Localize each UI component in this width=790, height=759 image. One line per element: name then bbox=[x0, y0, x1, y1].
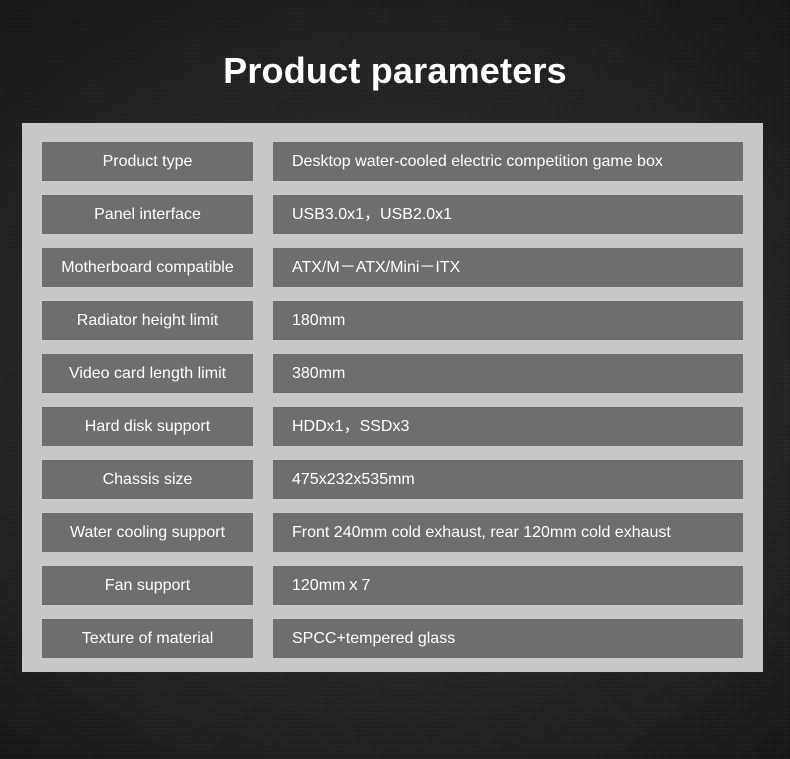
table-row: Fan support120mmｘ7 bbox=[42, 566, 743, 605]
specification-table: Product typeDesktop water-cooled electri… bbox=[42, 142, 743, 658]
table-row: Product typeDesktop water-cooled electri… bbox=[42, 142, 743, 181]
spec-value-cell: HDDx1，SSDx3 bbox=[273, 407, 743, 446]
spec-label-cell: Radiator height limit bbox=[42, 301, 253, 340]
spec-value-cell: Front 240mm cold exhaust, rear 120mm col… bbox=[273, 513, 743, 552]
page-title: Product parameters bbox=[0, 50, 790, 92]
spec-value-cell: USB3.0x1，USB2.0x1 bbox=[273, 195, 743, 234]
table-row: Chassis size475x232x535mm bbox=[42, 460, 743, 499]
table-row: Texture of materialSPCC+tempered glass bbox=[42, 619, 743, 658]
spec-value-cell: Desktop water-cooled electric competitio… bbox=[273, 142, 743, 181]
specification-panel: Product typeDesktop water-cooled electri… bbox=[22, 123, 763, 672]
column-gap bbox=[253, 566, 273, 605]
table-row: Video card length limit380mm bbox=[42, 354, 743, 393]
spec-label-cell: Fan support bbox=[42, 566, 253, 605]
table-row: Hard disk supportHDDx1，SSDx3 bbox=[42, 407, 743, 446]
spec-label-cell: Video card length limit bbox=[42, 354, 253, 393]
column-gap bbox=[253, 195, 273, 234]
spec-value-cell: SPCC+tempered glass bbox=[273, 619, 743, 658]
table-row: Water cooling supportFront 240mm cold ex… bbox=[42, 513, 743, 552]
spec-value-cell: 180mm bbox=[273, 301, 743, 340]
column-gap bbox=[253, 248, 273, 287]
column-gap bbox=[253, 407, 273, 446]
spec-label-cell: Chassis size bbox=[42, 460, 253, 499]
spec-value-cell: 120mmｘ7 bbox=[273, 566, 743, 605]
column-gap bbox=[253, 301, 273, 340]
spec-value-cell: ATX/M－ATX/Mini－ITX bbox=[273, 248, 743, 287]
column-gap bbox=[253, 354, 273, 393]
spec-label-cell: Motherboard compatible bbox=[42, 248, 253, 287]
spec-value-cell: 475x232x535mm bbox=[273, 460, 743, 499]
table-row: Panel interfaceUSB3.0x1，USB2.0x1 bbox=[42, 195, 743, 234]
spec-value-cell: 380mm bbox=[273, 354, 743, 393]
table-row: Motherboard compatibleATX/M－ATX/Mini－ITX bbox=[42, 248, 743, 287]
spec-label-cell: Panel interface bbox=[42, 195, 253, 234]
spec-label-cell: Water cooling support bbox=[42, 513, 253, 552]
column-gap bbox=[253, 513, 273, 552]
spec-label-cell: Product type bbox=[42, 142, 253, 181]
spec-label-cell: Texture of material bbox=[42, 619, 253, 658]
column-gap bbox=[253, 619, 273, 658]
spec-label-cell: Hard disk support bbox=[42, 407, 253, 446]
table-row: Radiator height limit180mm bbox=[42, 301, 743, 340]
column-gap bbox=[253, 460, 273, 499]
column-gap bbox=[253, 142, 273, 181]
